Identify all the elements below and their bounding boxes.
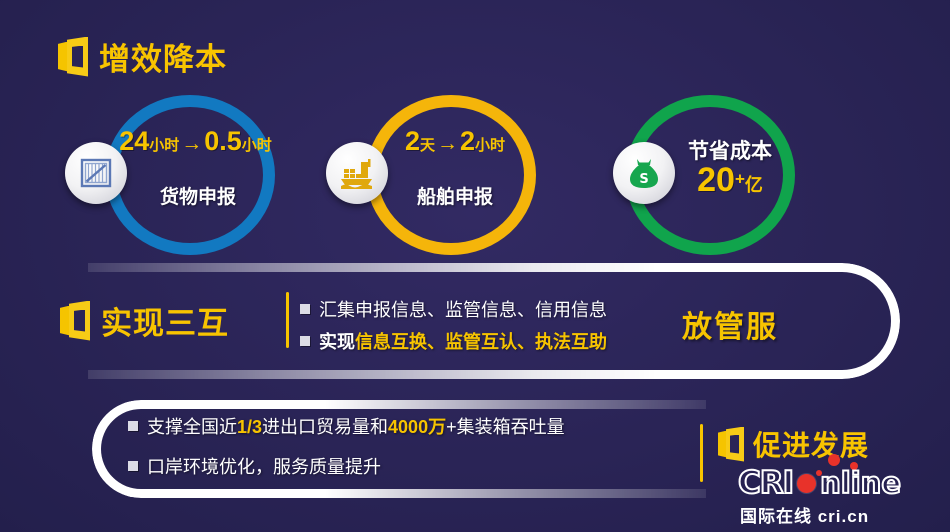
metric-value-1: 24小时→0.5小时 (108, 128, 283, 156)
bullet-square-icon (128, 421, 138, 431)
metric-from-unit-1: 小时 (149, 137, 179, 154)
arrow-icon: → (435, 132, 460, 155)
metric-value-3-sup: + (735, 170, 745, 189)
bottom-bullet-1: 支撑全国近1/3进出口贸易量和4000万+集装箱吞吐量 (128, 413, 565, 439)
metric-value-3: 20+亿 (650, 163, 810, 197)
metric-value-2: 2天→2小时 (380, 128, 530, 156)
metric-label-2: 船舶申报 (380, 182, 530, 209)
metric-badge-2 (326, 142, 388, 204)
svg-text:S: S (639, 172, 648, 187)
metric-from-unit-2: 天 (420, 137, 435, 154)
metric-value-3-unit: 亿 (745, 175, 763, 195)
bottom-bullet-1-h2: 4000万 (388, 417, 446, 437)
bottom-bullet-1-p1: 支撑全国近 (147, 417, 237, 437)
metric-label-1: 货物申报 (118, 182, 278, 209)
bottom-bullet-1-p3: +集装箱吞吐量 (446, 417, 565, 437)
middle-tagline: 放管服 (682, 302, 778, 346)
logo-block: 促进发展 CRI nline 国际在线 cri.cn (700, 418, 940, 518)
bullet-square-icon (128, 461, 138, 471)
section-heading-top-label: 增效降本 (99, 34, 227, 79)
section-heading-middle-label: 实现三互 (101, 298, 229, 343)
office-cube-icon (718, 427, 744, 462)
cargo-ship-icon (339, 156, 375, 190)
bottom-bullet-1-h1: 1/3 (237, 417, 262, 437)
logo-heading: 促进发展 (718, 424, 869, 464)
office-cube-icon (58, 37, 88, 77)
metric-to-unit-2: 小时 (475, 137, 505, 154)
middle-bullet-2-prefix: 实现 (319, 332, 355, 352)
cri-subtitle: 国际在线 cri.cn (740, 502, 869, 527)
bullet-square-icon (300, 336, 310, 346)
cri-online-text: nline (820, 466, 901, 500)
middle-bullet-2-highlight: 信息互换、监管互认、执法互助 (355, 332, 607, 352)
middle-divider (286, 292, 289, 348)
section-heading-top: 增效降本 (58, 34, 227, 79)
logo-divider (700, 424, 703, 482)
cri-red-dot-icon (797, 474, 816, 493)
metric-value-3-number: 20 (697, 161, 735, 199)
arrow-icon: → (179, 132, 204, 155)
middle-bullet-2: 实现信息互换、监管互认、执法互助 (300, 328, 607, 354)
metric-to-unit-1: 小时 (242, 137, 272, 154)
metric-ring-1 (105, 95, 275, 255)
wooden-crate-icon (79, 156, 113, 190)
bottom-bullet-1-p2: 进出口贸易量和 (262, 417, 388, 437)
cri-brand-text: CRI (738, 465, 793, 501)
metric-from-2: 2 (405, 126, 420, 156)
bottom-bullet-2-text: 口岸环境优化，服务质量提升 (147, 453, 381, 479)
middle-bullet-1: 汇集申报信息、监管信息、信用信息 (300, 296, 607, 322)
logo-heading-label: 促进发展 (753, 424, 869, 464)
cri-logo: CRI nline (738, 465, 901, 501)
metric-from-1: 24 (119, 126, 149, 156)
bottom-bullet-2: 口岸环境优化，服务质量提升 (128, 453, 381, 479)
metric-ring-2 (366, 95, 536, 255)
slide-canvas: 增效降本 24小时→0.5小时 货物申报 (0, 0, 950, 532)
bullet-square-icon (300, 304, 310, 314)
metric-to-1: 0.5 (204, 126, 242, 156)
section-heading-middle: 实现三互 (60, 298, 229, 343)
middle-bullet-1-text: 汇集申报信息、监管信息、信用信息 (319, 296, 607, 322)
office-cube-icon (60, 301, 90, 341)
metric-to-2: 2 (460, 126, 475, 156)
